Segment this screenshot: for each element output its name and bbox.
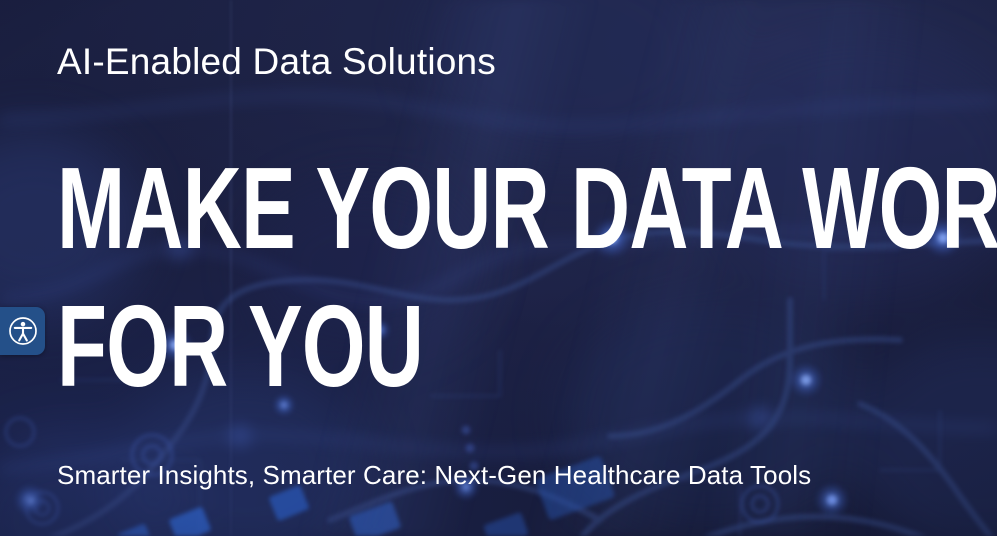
headline-line-1: MAKE YOUR DATA WORK [57, 139, 670, 277]
hero-content: AI-Enabled Data Solutions MAKE YOUR DATA… [57, 0, 937, 536]
accessibility-person-icon [8, 316, 38, 346]
hero-banner: AI-Enabled Data Solutions MAKE YOUR DATA… [0, 0, 997, 536]
hero-subtitle: Smarter Insights, Smarter Care: Next-Gen… [57, 456, 919, 494]
headline-line-2: FOR YOU [57, 277, 670, 415]
hero-eyebrow: AI-Enabled Data Solutions [57, 43, 496, 80]
accessibility-widget-button[interactable] [0, 307, 45, 355]
page-title: MAKE YOUR DATA WORK FOR YOU [57, 139, 927, 415]
